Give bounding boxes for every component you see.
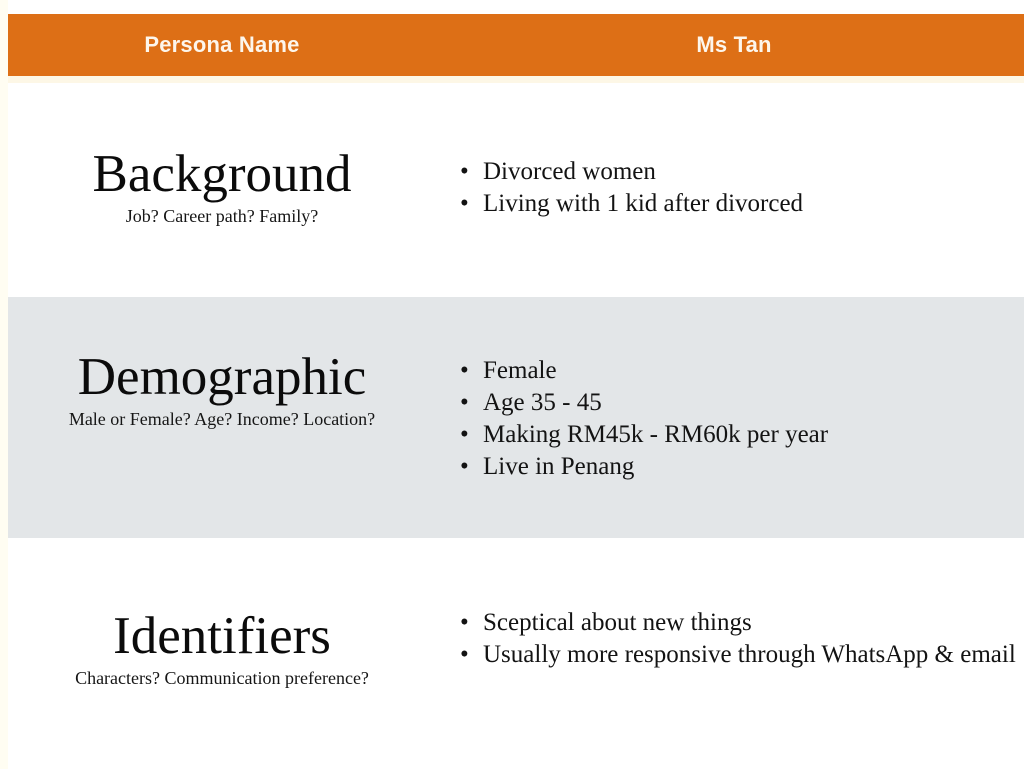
section-title-identifiers: Identifiers: [0, 609, 444, 664]
section-label-background: Background Job? Career path? Family?: [0, 142, 444, 228]
bullet-point-icon: •: [460, 451, 469, 483]
section-bullets-background: • Divorced women • Living with 1 kid aft…: [444, 142, 1024, 220]
bullet-point-icon: •: [460, 355, 469, 387]
bullet-list-background: • Divorced women • Living with 1 kid aft…: [452, 156, 1024, 220]
section-subtitle-demographic: Male or Female? Age? Income? Location?: [0, 409, 444, 431]
section-row-demographic: Demographic Male or Female? Age? Income?…: [0, 297, 1024, 538]
bullet-point-icon: •: [460, 419, 469, 451]
header-persona-name-label: Persona Name: [0, 34, 444, 56]
list-item-text: Making RM45k - RM60k per year: [483, 421, 828, 448]
list-item-text: Sceptical about new things: [483, 609, 752, 636]
section-row-identifiers: Identifiers Characters? Communication pr…: [0, 606, 1024, 726]
section-bullets-identifiers: • Sceptical about new things • Usually m…: [444, 606, 1024, 671]
list-item: • Living with 1 kid after divorced: [452, 188, 1024, 220]
bullet-point-icon: •: [460, 607, 469, 639]
section-title-background: Background: [0, 147, 444, 202]
section-bullets-demographic: • Female • Age 35 - 45 • Making RM45k - …: [444, 297, 1024, 483]
list-item: • Sceptical about new things: [452, 607, 1024, 639]
list-item: • Female: [452, 355, 1024, 387]
header-persona-name-value: Ms Tan: [444, 34, 1024, 56]
list-item-text: Living with 1 kid after divorced: [483, 190, 803, 217]
list-item-text: Divorced women: [483, 158, 656, 185]
list-item: • Age 35 - 45: [452, 387, 1024, 419]
section-label-identifiers: Identifiers Characters? Communication pr…: [0, 606, 444, 690]
list-item: • Making RM45k - RM60k per year: [452, 419, 1024, 451]
list-item-text: Live in Penang: [483, 453, 634, 480]
persona-slide: Persona Name Ms Tan Background Job? Care…: [0, 0, 1024, 769]
section-subtitle-identifiers: Characters? Communication preference?: [0, 668, 444, 690]
bullet-point-icon: •: [460, 639, 469, 671]
list-item: • Usually more responsive through WhatsA…: [452, 639, 1024, 671]
bullet-point-icon: •: [460, 188, 469, 220]
list-item-text: Female: [483, 357, 557, 384]
section-label-demographic: Demographic Male or Female? Age? Income?…: [0, 297, 444, 431]
section-subtitle-background: Job? Career path? Family?: [0, 206, 444, 228]
list-item: • Live in Penang: [452, 451, 1024, 483]
bullet-list-demographic: • Female • Age 35 - 45 • Making RM45k - …: [452, 355, 1024, 483]
header-underline: [0, 76, 1024, 83]
section-title-demographic: Demographic: [0, 350, 444, 405]
bullet-list-identifiers: • Sceptical about new things • Usually m…: [452, 607, 1024, 671]
list-item-text: Usually more responsive through WhatsApp…: [483, 641, 1016, 668]
section-row-background: Background Job? Career path? Family? • D…: [0, 142, 1024, 262]
bullet-point-icon: •: [460, 387, 469, 419]
bullet-point-icon: •: [460, 156, 469, 188]
persona-header-bar: Persona Name Ms Tan: [0, 14, 1024, 76]
list-item-text: Age 35 - 45: [483, 389, 602, 416]
list-item: • Divorced women: [452, 156, 1024, 188]
